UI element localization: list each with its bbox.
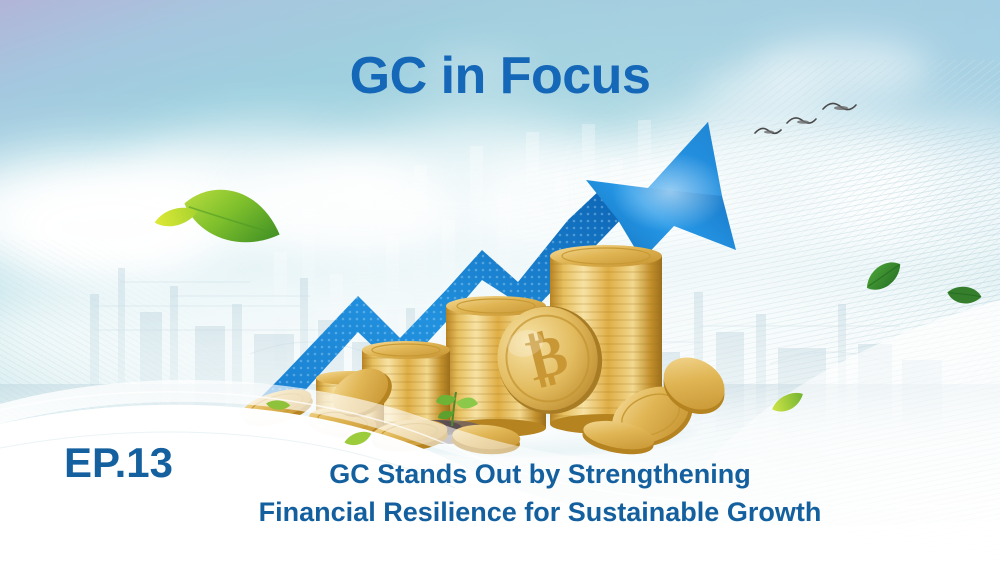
episode-subtitle: GC Stands Out by Strengthening Financial…: [160, 455, 920, 532]
episode-label: EP.13: [64, 439, 173, 487]
subtitle-line-1: GC Stands Out by Strengthening: [160, 455, 920, 493]
slide-canvas: ₿: [0, 0, 1000, 562]
subtitle-line-2: Financial Resilience for Sustainable Gro…: [160, 493, 920, 531]
page-title: GC in Focus: [0, 46, 1000, 106]
